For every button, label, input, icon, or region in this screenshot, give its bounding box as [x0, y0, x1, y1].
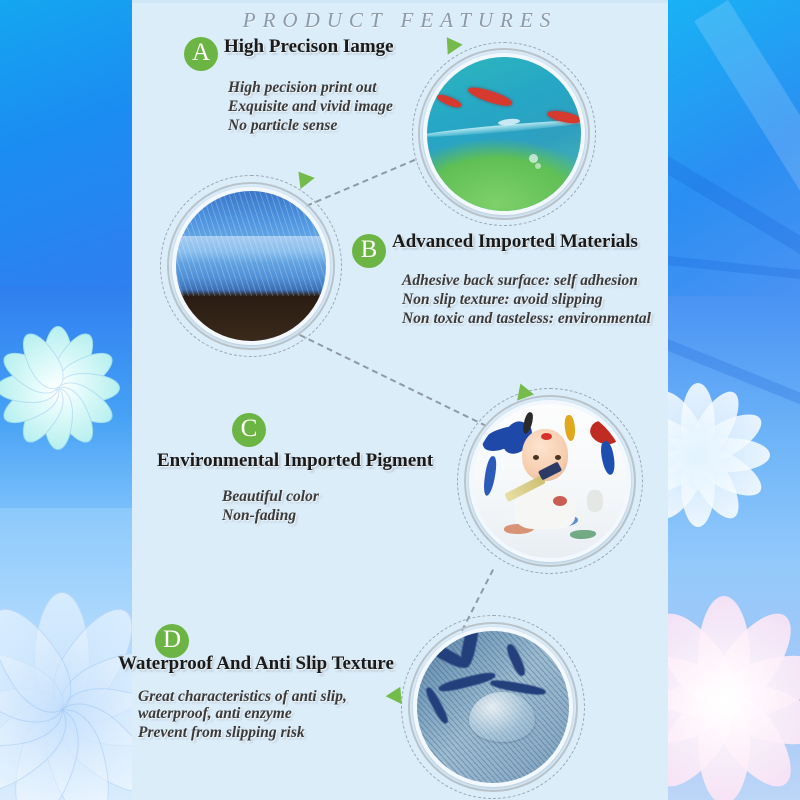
feature-c-line-2: Non-fading	[222, 506, 296, 525]
page-title: PRODUCT FEATURES	[132, 8, 668, 33]
feature-b-photo-circle	[167, 182, 335, 350]
right-decorative-border	[668, 0, 800, 800]
feature-b-line-1: Adhesive back surface: self adhesion	[402, 271, 638, 290]
feature-a-line-3: No particle sense	[228, 116, 337, 135]
painting-baby-photo	[469, 400, 631, 562]
panel-top-divider	[132, 0, 668, 3]
water-texture-photo-image	[417, 631, 569, 783]
left-border-top-gradient	[0, 0, 132, 290]
feature-d-photo-circle	[408, 622, 578, 792]
feature-d-line-2: waterproof, anti enzyme	[138, 704, 292, 723]
feature-b-line-3: Non toxic and tasteless: environmental	[402, 309, 651, 328]
badge-c: C	[232, 413, 266, 447]
feature-a-photo-circle	[418, 48, 590, 220]
feature-b-heading: Advanced Imported Materials	[392, 231, 638, 253]
left-decorative-border	[0, 0, 132, 800]
koi-pond-photo-image	[427, 57, 581, 211]
feature-d-heading: Waterproof And Anti Slip Texture	[118, 653, 394, 675]
badge-a: A	[184, 37, 218, 71]
feature-c-heading: Environmental Imported Pigment	[157, 450, 433, 472]
feature-d-line-3: Prevent from slipping risk	[138, 723, 305, 742]
blue-fabric-photo	[172, 187, 330, 345]
koi-pond-photo	[423, 53, 585, 215]
feature-a-line-1: High pecision print out	[228, 78, 377, 97]
infographic-canvas: PRODUCT FEATURES A High Precison Iamge H…	[0, 0, 800, 800]
blue-fabric-photo-image	[176, 191, 326, 341]
feature-c-photo-circle	[464, 395, 636, 567]
feature-c-line-1: Beautiful color	[222, 487, 319, 506]
water-texture-photo	[413, 627, 573, 787]
feature-b-line-2: Non slip texture: avoid slipping	[402, 290, 603, 309]
feature-a-line-2: Exquisite and vivid image	[228, 97, 393, 116]
badge-b: B	[352, 234, 386, 268]
painting-baby-photo-image	[473, 404, 627, 558]
feature-a-heading: High Precison Iamge	[224, 36, 394, 58]
